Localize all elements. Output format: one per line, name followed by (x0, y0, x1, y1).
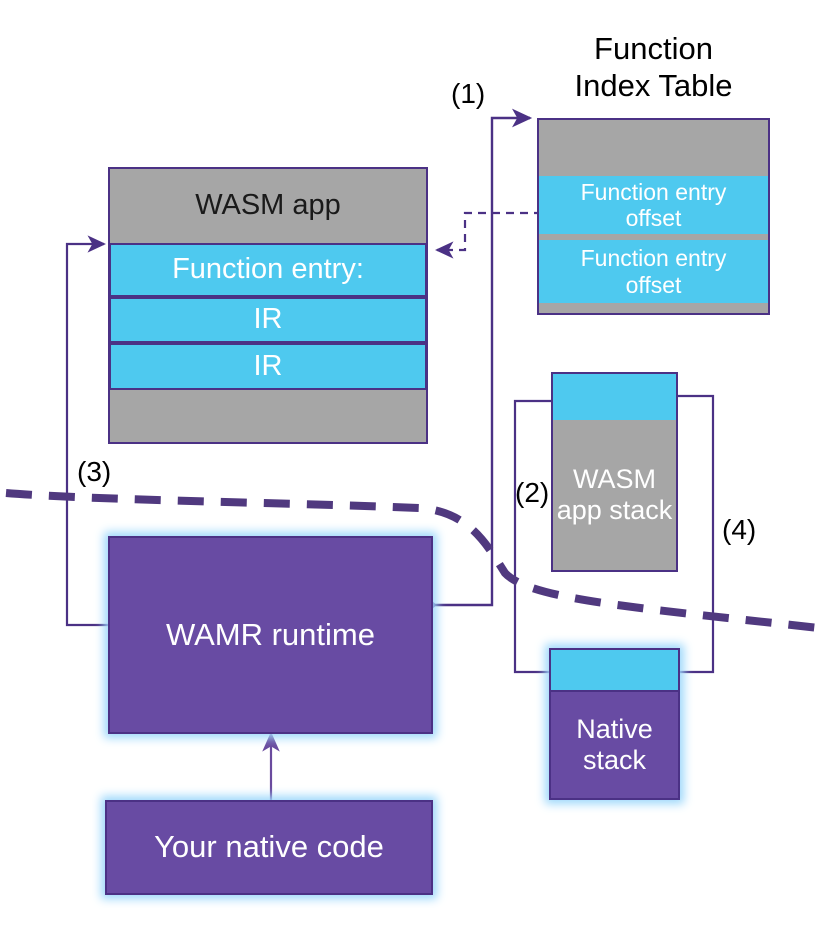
wasm-app-row-bottom (110, 390, 426, 442)
fit-row-0 (539, 120, 768, 176)
step-3-label: (3) (77, 455, 111, 488)
your-native-code-label: Your native code (154, 830, 384, 865)
function-index-table-title: Function Index Table (537, 30, 770, 104)
step-1-label: (1) (451, 77, 485, 110)
step-2-label: (2) (515, 476, 549, 509)
fit-row-3: Function entry offset (539, 240, 768, 303)
connector-step-1 (424, 118, 531, 611)
native-stack-top-band (549, 648, 680, 692)
wasm-app-row-ir-2: IR (109, 343, 427, 390)
wasm-app-row-title: WASM app (110, 169, 426, 243)
connector-step-3 (67, 244, 108, 625)
wamr-runtime-box: WAMR runtime (108, 536, 433, 734)
step-4-label: (4) (722, 513, 756, 546)
your-native-code-box: Your native code (105, 800, 433, 895)
fit-row-1: Function entry offset (539, 176, 768, 234)
wamr-runtime-label: WAMR runtime (166, 618, 375, 653)
wasm-app-stack-top-band (553, 374, 676, 420)
wasm-app-row-function-entry: Function entry: (109, 243, 427, 297)
diagram-canvas: Function Index Table Function entry offs… (0, 0, 819, 925)
wasm-app-stack-label: WASM app stack (553, 420, 676, 570)
wasm-app-row-ir-1: IR (109, 297, 427, 343)
fit-row-4 (539, 303, 768, 313)
native-stack-body: Native stack (549, 690, 680, 800)
